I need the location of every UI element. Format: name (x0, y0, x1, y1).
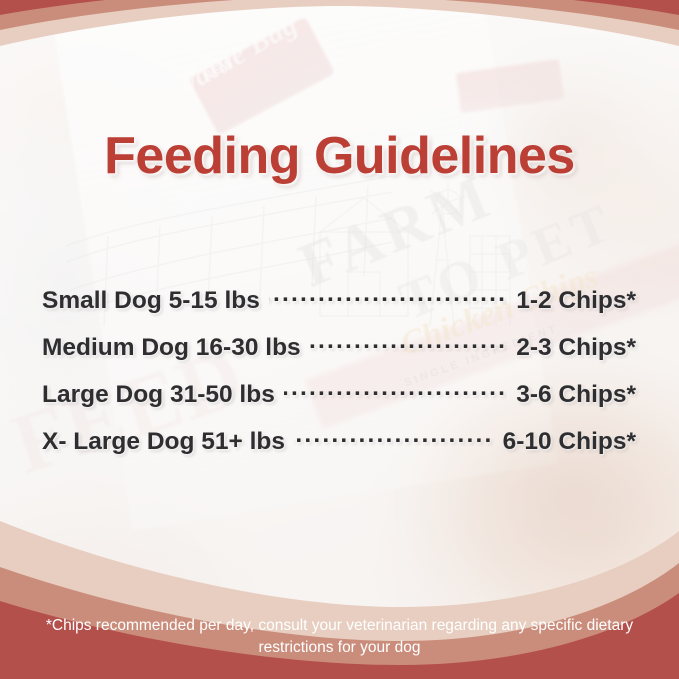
guideline-size-label: X- Large Dog 51+ lbs (42, 428, 285, 456)
page-title: Feeding Guidelines (0, 126, 679, 186)
dotted-leader (269, 283, 507, 308)
guideline-row: X- Large Dog 51+ lbs 6-10 Chips* (42, 424, 636, 471)
guideline-row: Medium Dog 16-30 lbs 2-3 Chips* (42, 330, 636, 377)
footer-disclaimer-text: *Chips recommended per day, consult your… (30, 615, 649, 659)
guideline-row: Large Dog 31-50 lbs 3-6 Chips* (42, 377, 636, 424)
dotted-leader (294, 424, 494, 449)
guideline-size-label: Large Dog 31-50 lbs (42, 381, 275, 409)
guideline-amount-value: 2-3 Chips* (516, 334, 636, 362)
guideline-amount-value: 3-6 Chips* (516, 381, 636, 409)
guideline-amount-value: 1-2 Chips* (516, 287, 636, 315)
footer-bar: *Chips recommended per day, consult your… (0, 601, 679, 679)
guideline-row: Small Dog 5-15 lbs 1-2 Chips* (42, 283, 636, 330)
guideline-amount-value: 6-10 Chips* (503, 428, 636, 456)
dotted-leader (310, 330, 508, 355)
dotted-leader (284, 377, 507, 402)
feeding-guidelines-list: Small Dog 5-15 lbs 1-2 Chips* Medium Dog… (42, 283, 636, 471)
guideline-size-label: Medium Dog 16-30 lbs (42, 334, 301, 362)
guideline-size-label: Small Dog 5-15 lbs (42, 287, 260, 315)
feeding-guidelines-card: NEW Value Bag (0, 0, 679, 679)
